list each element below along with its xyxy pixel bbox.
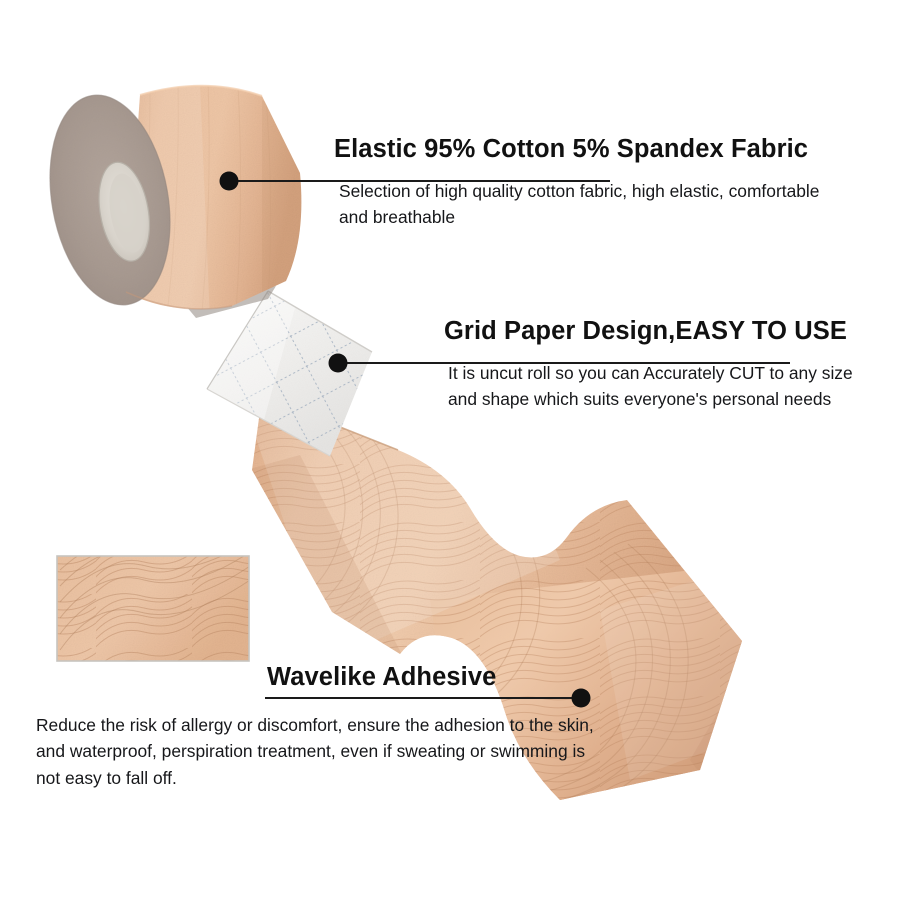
callout-wave-body-block: Reduce the risk of allergy or discomfort…: [36, 712, 596, 791]
callout-fabric-heading: Elastic 95% Cotton 5% Spandex Fabric: [334, 136, 835, 163]
callout-grid-heading: Grid Paper Design,EASY TO USE: [444, 318, 878, 345]
wavelike-adhesive-swatch: [57, 514, 250, 661]
callout-grid: Grid Paper Design,EASY TO USE It is uncu…: [444, 318, 878, 413]
callout-wave-body: Reduce the risk of allergy or discomfort…: [36, 712, 596, 791]
callout-wave-heading: Wavelike Adhesive: [267, 664, 496, 691]
infographic-canvas: Elastic 95% Cotton 5% Spandex Fabric Sel…: [0, 0, 900, 900]
callout-fabric-body: Selection of high quality cotton fabric,…: [339, 178, 835, 231]
callout-wave: Wavelike Adhesive: [267, 664, 496, 691]
callout-grid-body: It is uncut roll so you can Accurately C…: [448, 360, 878, 413]
kinesiology-tape-roll: [34, 82, 310, 320]
callout-fabric: Elastic 95% Cotton 5% Spandex Fabric Sel…: [334, 136, 835, 231]
